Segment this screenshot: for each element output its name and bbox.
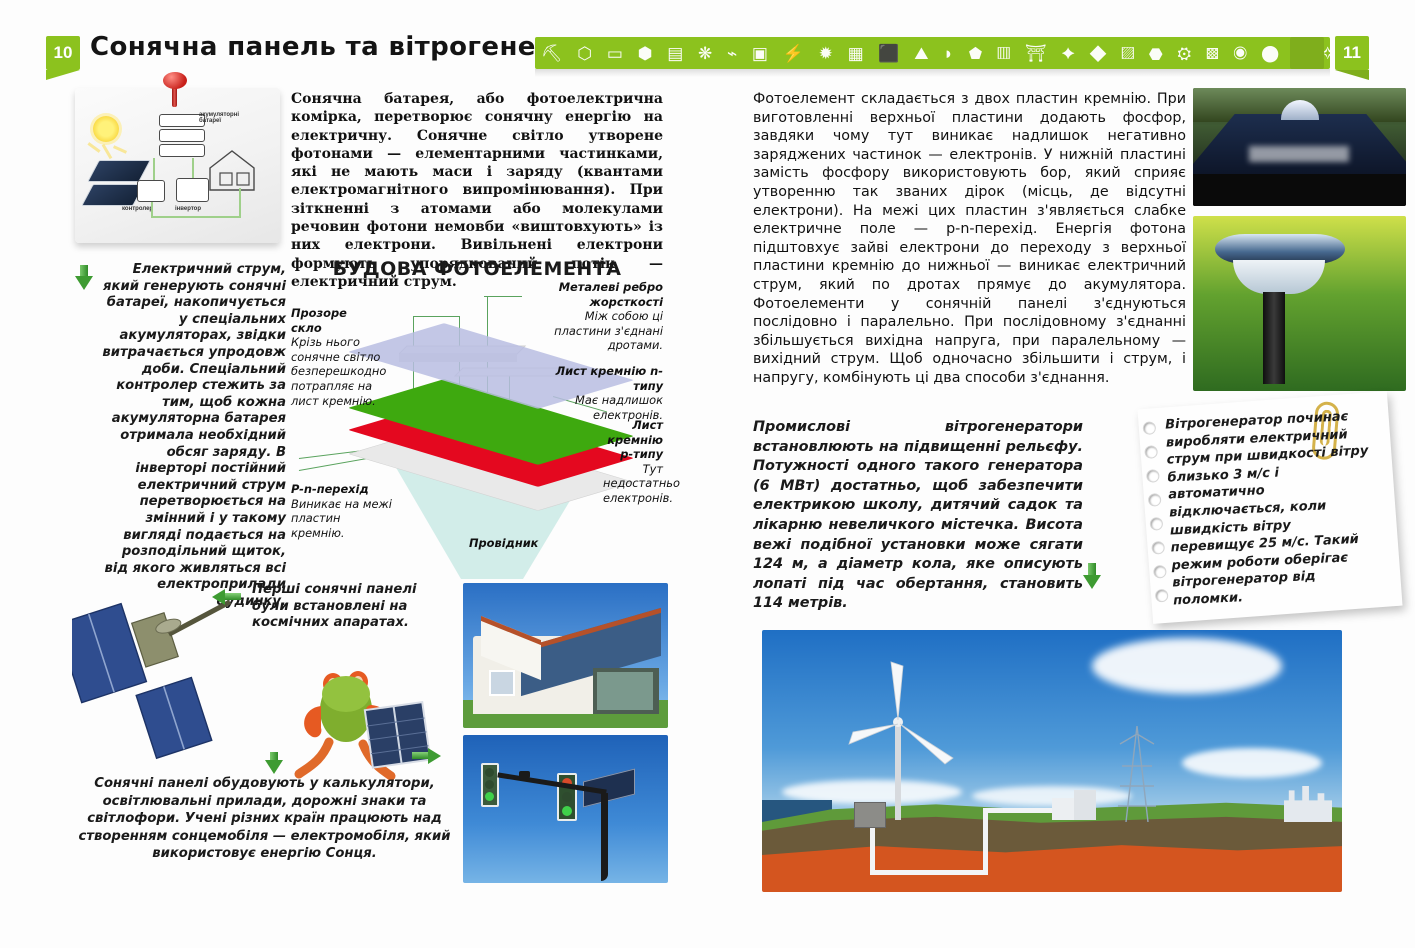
note-card: Вітрогенератор починає виробляти електри… (1137, 391, 1402, 624)
leader-line (413, 316, 460, 317)
book-spread: 10 Сонячна панель та вітрогенератор ⛏ ⬡ … (0, 0, 1415, 948)
label-body: Крізь нього сонячне світло безперешкодно… (291, 335, 386, 407)
label-heading: Металеві ребро жорсткості (531, 280, 663, 309)
frog-mascot-illustration (285, 650, 430, 790)
sun-icon (93, 116, 119, 142)
icon-band-glyphs: ⛏ ⬡ ▭ ⬢ ▤ ❋ ⌁ ▣ ⚡ ✹ ▦ ⬛ ⛰ ◗ ⬟ ▥ ⛩ ✦ ◆ ▨ … (535, 45, 1330, 62)
solar-panel-icon (87, 160, 151, 182)
power-pylon-icon (1114, 726, 1160, 822)
arrow-right-triangle (428, 748, 441, 764)
leader-line (484, 296, 522, 297)
windgen-paragraph: Промислові вітрогенератори встановлюють … (753, 418, 1083, 614)
diagram-label-metal-rib: Металеві ребро жорсткості Між собою ці п… (531, 280, 663, 353)
scheme-label-controller: контролер (122, 206, 153, 212)
band-shadow (535, 69, 1330, 77)
battery-stack-icon (159, 129, 205, 142)
label-body: Між собою ці пластини з'єднані дротами. (554, 309, 663, 352)
page-header: 10 Сонячна панель та вітрогенератор ⛏ ⬡ … (0, 0, 1415, 82)
diagram-title: БУДОВА ФОТОЕЛЕМЕНТА (291, 258, 663, 280)
photo-solar-garden-lamp (1193, 216, 1406, 391)
band-end-badge (1290, 37, 1324, 69)
label-body: Виникає на межі пластин кремнію. (291, 497, 392, 540)
photo-solar-traffic-light (463, 735, 668, 883)
arrow-right-icon (412, 748, 444, 764)
diagram-label-glass: Прозоре скло Крізь нього сонячне світло … (291, 306, 403, 408)
right-main-paragraph: Фотоелемент складається з двох пластин к… (753, 90, 1186, 388)
photo-house-with-solar-roof (463, 583, 668, 728)
page-number-right: 11 (1335, 36, 1369, 70)
bottom-note-paragraph: Сонячні панелі обудовують у калькулятори… (72, 775, 457, 863)
arrow-down-icon (264, 752, 284, 776)
solar-system-scheme-illustration: акумуляторні батареї контролер інвертор (75, 88, 280, 243)
wind-turbine-icon (847, 660, 957, 820)
space-note-paragraph: Перші сонячні панелі були встановлені на… (252, 582, 457, 632)
arrow-down-icon (1082, 563, 1102, 593)
diagram-label-pn-junction: P-n-перехід Виникає на межі пластин крем… (291, 482, 395, 540)
arrow-left-icon (212, 589, 244, 605)
diagram-label-p-type: Лист кремнію p-типу Тут недостатньо елек… (603, 418, 663, 506)
diagram-label-n-type: Лист кремнію n-типу Має надлишок електро… (529, 364, 663, 422)
battery-stack-icon (159, 144, 205, 157)
house-icon (206, 146, 258, 194)
controller-icon (137, 180, 165, 202)
label-body: Тут недостатньо електронів. (603, 462, 680, 505)
label-heading: Прозоре скло (291, 306, 403, 335)
photo-wind-farm-cross-section (762, 630, 1342, 892)
label-heading: Провідник (469, 536, 579, 551)
label-heading: Лист кремнію p-типу (603, 418, 663, 462)
left-aside-paragraph: Електричний струм, який генерують сонячн… (96, 262, 286, 610)
inverter-icon (176, 178, 209, 202)
diagram-label-conductor: Провідник (469, 536, 579, 551)
junction-box-icon (854, 802, 886, 828)
scheme-label-inverter: інвертор (175, 206, 201, 212)
decorative-icon-band: ⛏ ⬡ ▭ ⬢ ▤ ❋ ⌁ ▣ ⚡ ✹ ▦ ⬛ ⛰ ◗ ⬟ ▥ ⛩ ✦ ◆ ▨ … (535, 37, 1330, 69)
arrow-down-icon (74, 265, 94, 293)
label-heading: P-n-перехід (291, 482, 395, 497)
scheme-label-batteries: акумуляторні батареї (199, 112, 239, 124)
note-card-text: Вітрогенератор починає виробляти електри… (1165, 407, 1379, 610)
label-heading: Лист кремнію n-типу (529, 364, 663, 393)
solar-panel-icon (81, 184, 145, 206)
photo-solar-road-panel (1193, 88, 1406, 206)
satellite-illustration (72, 585, 262, 770)
photoelement-structure-diagram: Прозоре скло Крізь нього сонячне світло … (291, 278, 663, 578)
pushpin-icon (161, 72, 189, 106)
page-number-left: 10 (46, 36, 80, 70)
